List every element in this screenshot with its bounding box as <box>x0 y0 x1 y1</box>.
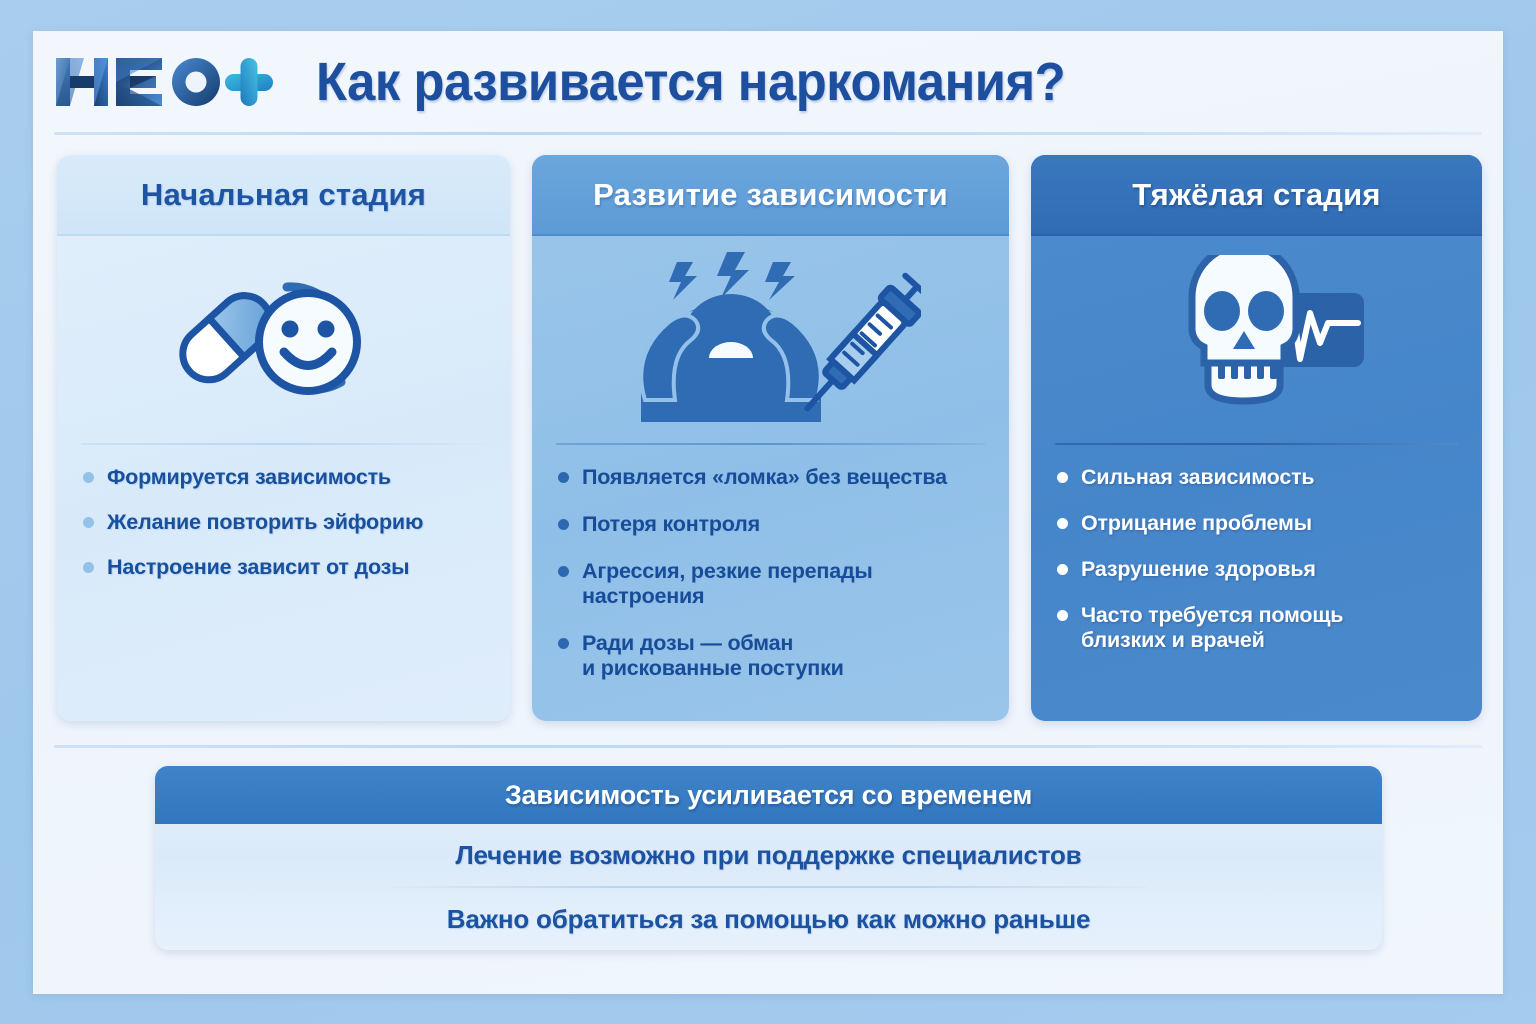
summary-card[interactable]: Зависимость усиливается со временем Лече… <box>155 766 1382 950</box>
bullet-text: Агрессия, резкие перепады настроения <box>582 559 985 609</box>
footer-divider-rule <box>54 745 1482 748</box>
bullet-dot-icon <box>83 562 94 573</box>
bullet-dot-icon <box>1057 472 1068 483</box>
summary-line-1: Лечение возможно при поддержке специалис… <box>155 824 1382 886</box>
list-item: Сильная зависимость <box>1057 465 1458 490</box>
list-item: Агрессия, резкие перепады настроения <box>558 559 985 609</box>
bullet-text: Сильная зависимость <box>1081 465 1314 490</box>
list-item: Отрицание проблемы <box>1057 511 1458 536</box>
header: Как развивается наркомания? <box>33 31 1503 133</box>
bullet-list-initial: Формируется зависимость Желание повторит… <box>57 445 510 721</box>
bullet-dot-icon <box>558 566 569 577</box>
bullet-dot-icon <box>558 638 569 649</box>
list-item: Потеря контроля <box>558 512 985 537</box>
bullet-list-developing: Появляется «ломка» без вещества Потеря к… <box>532 445 1009 721</box>
bullet-text: Желание повторить эйфорию <box>107 510 423 535</box>
stage-card-developing[interactable]: Развитие зависимости <box>532 155 1009 721</box>
bullet-text: Формируется зависимость <box>107 465 391 490</box>
summary-line-2: Важно обратиться за помощью как можно ра… <box>155 888 1382 950</box>
list-item: Желание повторить эйфорию <box>83 510 486 535</box>
bullet-dot-icon <box>1057 518 1068 529</box>
pill-and-smiley-cycle-icon <box>57 236 510 443</box>
list-item: Настроение зависит от дозы <box>83 555 486 580</box>
bullet-text: Настроение зависит от дозы <box>107 555 409 580</box>
skull-and-ecg-monitor-icon <box>1031 236 1482 443</box>
card-title-severe: Тяжёлая стадия <box>1031 155 1482 236</box>
list-item: Ради дозы — обмани рискованные поступки <box>558 631 985 681</box>
list-item: Часто требуется помощьблизких и врачей <box>1057 603 1458 653</box>
stage-cards-row: Начальная стадия <box>57 155 1482 721</box>
bullet-text: Ради дозы — обмани рискованные поступки <box>582 631 844 681</box>
card-title-developing: Развитие зависимости <box>532 155 1009 236</box>
bullet-dot-icon <box>83 517 94 528</box>
bullet-dot-icon <box>1057 564 1068 575</box>
list-item: Разрушение здоровья <box>1057 557 1458 582</box>
list-item: Формируется зависимость <box>83 465 486 490</box>
summary-headline: Зависимость усиливается со временем <box>155 766 1382 824</box>
bullet-text: Отрицание проблемы <box>1081 511 1312 536</box>
page-title: Как развивается наркомания? <box>316 51 1065 113</box>
poster-background: Как развивается наркомания? Начальная ст… <box>0 0 1536 1024</box>
bullet-list-severe: Сильная зависимость Отрицание проблемы Р… <box>1031 445 1482 721</box>
bullet-text: Потеря контроля <box>582 512 760 537</box>
stage-card-severe[interactable]: Тяжёлая стадия <box>1031 155 1482 721</box>
neo-plus-logo <box>50 46 280 118</box>
bullet-dot-icon <box>1057 610 1068 621</box>
bullet-text: Разрушение здоровья <box>1081 557 1316 582</box>
bullet-dot-icon <box>83 472 94 483</box>
bullet-text: Появляется «ломка» без вещества <box>582 465 947 490</box>
stage-card-initial[interactable]: Начальная стадия <box>57 155 510 721</box>
bullet-dot-icon <box>558 519 569 530</box>
header-divider <box>54 132 1482 135</box>
logo-icon <box>50 46 280 118</box>
bullet-text: Часто требуется помощьблизких и врачей <box>1081 603 1343 653</box>
stressed-person-and-syringe-icon <box>532 236 1009 443</box>
infographic-panel: Как развивается наркомания? Начальная ст… <box>33 31 1503 994</box>
bullet-dot-icon <box>558 472 569 483</box>
list-item: Появляется «ломка» без вещества <box>558 465 985 490</box>
card-title-initial: Начальная стадия <box>57 155 510 236</box>
